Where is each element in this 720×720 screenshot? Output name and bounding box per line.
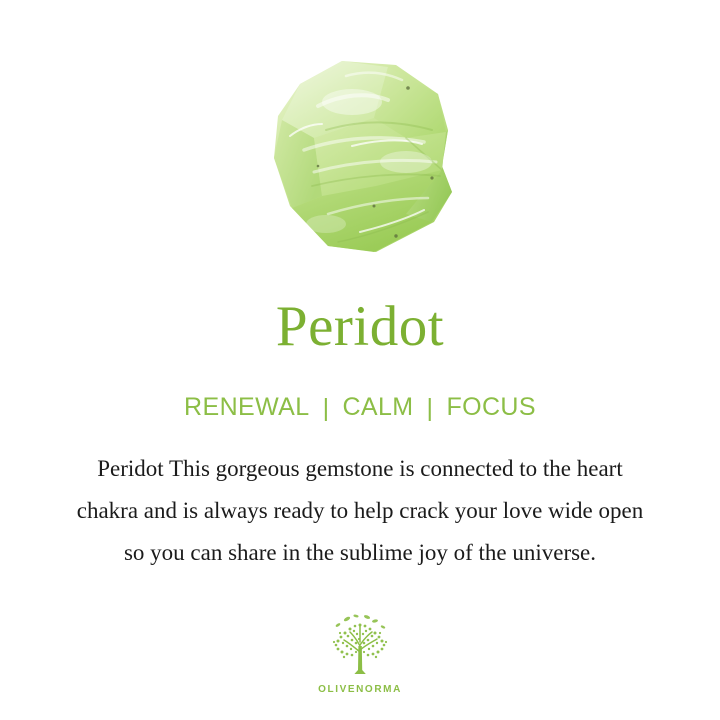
brand-logo: OLIVENORMA — [0, 612, 720, 695]
keyword-list: RENEWAL|CALM|FOCUS — [0, 393, 720, 422]
page-title: Peridot — [0, 297, 720, 357]
product-info-card: Peridot RENEWAL|CALM|FOCUS Peridot This … — [0, 0, 720, 720]
description-line-3: so you can share in the sublime joy of t… — [0, 532, 720, 574]
keyword-renewal: RENEWAL — [184, 393, 310, 422]
description-line-2: chakra and is always ready to help crack… — [0, 490, 720, 532]
peridot-gemstone-image — [256, 46, 470, 274]
keyword-separator-2: | — [427, 394, 434, 423]
brand-wordmark: OLIVENORMA — [318, 684, 402, 695]
description-line-1: Peridot This gorgeous gemstone is connec… — [0, 448, 720, 490]
keyword-focus: FOCUS — [446, 393, 536, 422]
peridot-gemstone-icon — [256, 46, 470, 274]
keyword-separator-1: | — [323, 394, 330, 423]
keyword-calm: CALM — [342, 393, 413, 422]
olive-tree-icon — [323, 612, 397, 682]
description-text: Peridot This gorgeous gemstone is connec… — [0, 448, 720, 574]
